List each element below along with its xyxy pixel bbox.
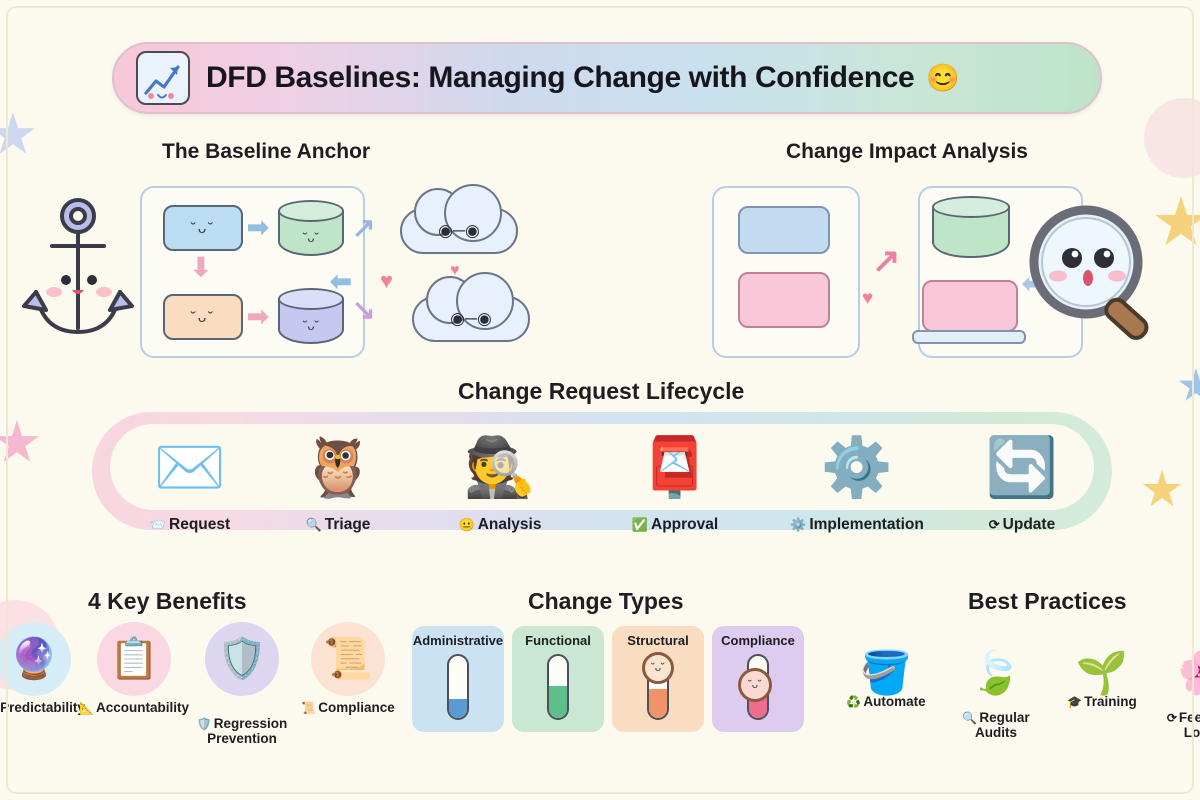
- best-practice-feedback-loops[interactable]: 🌸 ⟳Feedback Loops: [1150, 632, 1200, 741]
- arrow-down-pink: ⬇: [190, 254, 212, 280]
- lifecycle-stage-update[interactable]: 🔄 ⟳Update: [952, 420, 1092, 534]
- lifecycle-stage-approval[interactable]: 📮 ✅Approval: [600, 420, 750, 534]
- owl-art: 🦉: [268, 420, 408, 516]
- magnifier-icon: [1016, 200, 1166, 350]
- change-type-functional[interactable]: Functional: [512, 626, 604, 732]
- refresh-icon: ⟳: [1167, 711, 1177, 725]
- arrow-curve-back: ⬅: [330, 268, 352, 294]
- best-practice-label: ⟳Feedback Loops: [1150, 694, 1200, 741]
- ruler-icon: 📐: [79, 701, 94, 715]
- gear-art: ⚙️: [762, 420, 952, 516]
- heading-change-impact: Change Impact Analysis: [786, 140, 1028, 164]
- shield-icon: 🛡️: [205, 622, 279, 696]
- heading-lifecycle: Change Request Lifecycle: [458, 378, 744, 405]
- clipboard-icon: 📋: [97, 622, 171, 696]
- laptop-base: [912, 330, 1026, 344]
- best-practice-label: 🎓Training: [1048, 694, 1156, 710]
- glasses-icon: ◉─◉: [438, 221, 480, 241]
- best-practice-label: 🔍Regular Audits: [942, 694, 1050, 741]
- impact-arrow: ↗: [872, 244, 901, 278]
- graduation-plant-icon: 🌱: [1048, 632, 1156, 694]
- best-practice-regular-audits[interactable]: 🍃 🔍Regular Audits: [942, 632, 1050, 741]
- heart-icon: ♥: [450, 262, 460, 280]
- change-type-compliance[interactable]: Compliance ˘ᴗ˘: [712, 626, 804, 732]
- flower-arrow-icon: 🌸: [1150, 632, 1200, 694]
- impact-box-blue: [738, 206, 830, 254]
- lifecycle-stage-triage[interactable]: 🦉 🔍Triage: [268, 420, 408, 534]
- star-decoration: [0, 420, 40, 466]
- envelope-icon: 📨: [150, 517, 166, 532]
- change-type-label: Administrative: [412, 633, 504, 648]
- smiley-face-icon: ˘ᴗ˘: [642, 652, 674, 684]
- change-type-administrative[interactable]: Administrative: [412, 626, 504, 732]
- benefit-label: 🛡️Regression Prevention: [186, 700, 298, 747]
- heading-change-types: Change Types: [528, 588, 684, 615]
- refresh-art: 🔄: [952, 420, 1092, 516]
- scroll-icon: 📜: [311, 622, 385, 696]
- arrow-curve-up: ↗: [352, 214, 375, 242]
- glasses-icon: ◉─◉: [450, 309, 492, 329]
- shield-icon: 🛡️: [197, 717, 212, 731]
- heart-icon: ♥: [380, 268, 393, 294]
- cloud-bottom: ◉─◉: [412, 296, 530, 342]
- watering-can-icon: 🪣: [832, 632, 940, 694]
- change-type-label: Structural: [612, 633, 704, 648]
- graduation-cap-icon: 🎓: [1067, 695, 1082, 709]
- leaf-magnifier-icon: 🍃: [942, 632, 1050, 694]
- lifecycle-stage-label: ⚙️Implementation: [762, 516, 952, 534]
- impact-box-pink: [738, 272, 830, 328]
- datastore-green: ˘ᴗ˘: [278, 200, 344, 256]
- magnifier-icon: 🔍: [962, 711, 977, 725]
- star-decoration: [1142, 470, 1182, 510]
- change-type-label: Functional: [512, 633, 604, 648]
- lifecycle-stage-label: ✅Approval: [600, 516, 750, 534]
- lifecycle-stage-label: 📨Request: [120, 516, 260, 534]
- benefit-regression-prevention[interactable]: 🛡️ 🛡️Regression Prevention: [186, 622, 298, 747]
- refresh-icon: ⟳: [989, 517, 1000, 532]
- lifecycle-stage-label: ⟳Update: [952, 516, 1092, 534]
- kawaii-face: ˘ᴗ˘: [191, 221, 215, 236]
- arrow-curve-down: ↘: [352, 296, 375, 324]
- impact-box-pink-after: [922, 280, 1018, 332]
- lifecycle-stage-label: 🔍Triage: [268, 516, 408, 534]
- gauge-fill: [449, 699, 467, 718]
- datastore-purple: ˘ᴗ˘: [278, 288, 344, 344]
- process-node-orange: ˘ᴗ˘: [163, 294, 243, 340]
- arrow-right-pink: ➡: [247, 303, 269, 329]
- gauge-fill: [649, 689, 667, 718]
- kawaii-face: ˘ᴗ˘: [191, 310, 215, 325]
- process-node-blue: ˘ᴗ˘: [163, 205, 243, 251]
- lifecycle-stage-request[interactable]: ✉️ 📨Request: [120, 420, 260, 534]
- heading-best-practices: Best Practices: [968, 588, 1127, 615]
- blob-decoration: [1144, 98, 1200, 178]
- benefit-label: 📐Accountability: [78, 700, 190, 716]
- gauge-fill: [549, 686, 567, 718]
- scroll-icon: 📜: [301, 701, 316, 715]
- gauge-tube: [547, 654, 569, 720]
- heart-icon: ♥: [862, 288, 873, 310]
- gauge-tube: [447, 654, 469, 720]
- anchor-illustration: [18, 188, 138, 358]
- best-practice-label: ♻️Automate: [832, 694, 940, 710]
- best-practice-training[interactable]: 🌱 🎓Training: [1048, 632, 1156, 710]
- smiley-face-icon: ˘ᴗ˘: [738, 668, 772, 702]
- best-practice-automate[interactable]: 🪣 ♻️Automate: [832, 632, 940, 710]
- change-type-structural[interactable]: Structural ˘ᴗ˘: [612, 626, 704, 732]
- benefit-label: 📜Compliance: [292, 700, 404, 716]
- lifecycle-stage-analysis[interactable]: 🕵️ 😐Analysis: [425, 420, 575, 534]
- gear-icon: ⚙️: [790, 517, 806, 532]
- magnifier-icon: 🔍: [306, 517, 322, 532]
- star-decoration: [0, 112, 36, 158]
- arrow-right-blue: ➡: [247, 214, 269, 240]
- heading-key-benefits: 4 Key Benefits: [88, 588, 247, 615]
- crystal-ball-icon: 🔮: [0, 622, 71, 696]
- detective-bird-art: 🕵️: [425, 420, 575, 516]
- check-icon: ✅: [632, 517, 648, 532]
- infographic-canvas: DFD Baselines: Managing Change with Conf…: [0, 0, 1200, 800]
- title-banner: DFD Baselines: Managing Change with Conf…: [112, 42, 1102, 114]
- lifecycle-stage-label: 😐Analysis: [425, 516, 575, 534]
- recycle-icon: ♻️: [846, 695, 861, 709]
- smiley-icon: 😊: [926, 65, 960, 92]
- change-type-label: Compliance: [712, 633, 804, 648]
- cloud-top: ◉─◉: [400, 208, 518, 254]
- heading-baseline-anchor: The Baseline Anchor: [162, 140, 370, 164]
- page-title: DFD Baselines: Managing Change with Conf…: [206, 61, 914, 95]
- stamp-art: 📮: [600, 420, 750, 516]
- benefit-compliance[interactable]: 📜 📜Compliance: [292, 622, 404, 716]
- detective-icon: 😐: [459, 517, 475, 532]
- star-decoration: [1178, 368, 1200, 404]
- benefit-label: 🔮Predictability: [0, 700, 90, 716]
- impact-datastore-green: [932, 196, 1010, 258]
- chart-line-icon: [136, 51, 190, 105]
- lifecycle-stage-implementation[interactable]: ⚙️ ⚙️Implementation: [762, 420, 952, 534]
- benefit-predictability[interactable]: 🔮 🔮Predictability: [0, 622, 90, 716]
- benefit-accountability[interactable]: 📋 📐Accountability: [78, 622, 190, 716]
- envelope-art: ✉️: [120, 420, 260, 516]
